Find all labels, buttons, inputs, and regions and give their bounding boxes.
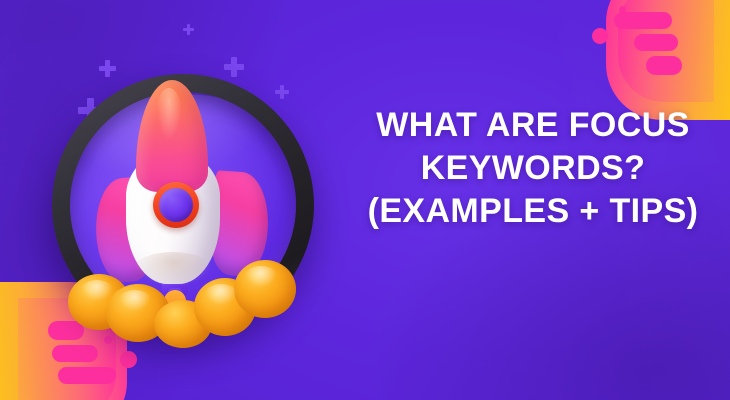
splash-bar bbox=[634, 34, 678, 51]
splash-bar bbox=[52, 345, 98, 362]
splash-bar bbox=[58, 367, 116, 384]
title-line: KEYWORDS? bbox=[348, 147, 718, 190]
title-line: (EXAMPLES + TIPS) bbox=[348, 190, 718, 233]
splash-dot bbox=[619, 6, 626, 13]
rocket-illustration bbox=[52, 74, 314, 336]
exhaust-cloud bbox=[234, 260, 296, 318]
rocket-body-shading bbox=[134, 252, 212, 286]
banner-title: WHAT ARE FOCUS KEYWORDS? (EXAMPLES + TIP… bbox=[348, 104, 718, 233]
splash-dot bbox=[592, 28, 608, 44]
splash-dot bbox=[104, 336, 112, 344]
rocket-nose-highlight bbox=[156, 88, 182, 140]
blog-banner: WHAT ARE FOCUS KEYWORDS? (EXAMPLES + TIP… bbox=[0, 0, 730, 400]
title-line: WHAT ARE FOCUS bbox=[348, 104, 718, 147]
rocket-porthole-glass bbox=[159, 188, 193, 222]
splash-dot bbox=[120, 351, 137, 368]
splash-bar bbox=[646, 56, 682, 75]
splash-bar bbox=[614, 12, 672, 29]
rocket-medallion bbox=[52, 74, 314, 336]
gradient-splash-top-right bbox=[560, 0, 730, 96]
plus-sparkle-icon bbox=[183, 24, 194, 35]
